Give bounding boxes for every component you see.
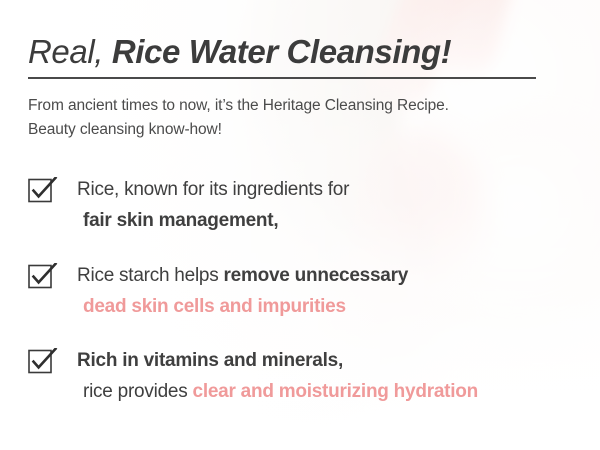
list-item-2-line-2-accent: dead skin cells and impurities: [83, 296, 346, 317]
list-item-line-1: Rich in vitamins and minerals,: [77, 346, 478, 377]
subtitle-line-2: Beauty cleansing know-how!: [28, 118, 572, 142]
rice-water-cleansing-banner: Real, Rice Water Cleansing! From ancient…: [0, 0, 600, 450]
list-item-2-line-1-bold: remove unnecessary: [224, 265, 409, 286]
list-item-text: Rice, known for its ingredients for fair…: [77, 175, 349, 237]
checkbox-checked-icon: [28, 177, 58, 203]
subtitle-block: From ancient times to now, it’s the Heri…: [28, 94, 572, 141]
title-light-segment: Real,: [28, 33, 103, 70]
list-item-3-line-1-bold: Rich in vitamins and minerals,: [77, 350, 343, 371]
title-strong-segment: Rice Water Cleansing!: [112, 33, 451, 70]
title-block: Real, Rice Water Cleansing!: [28, 0, 572, 79]
benefit-list: Rice, known for its ingredients for fair…: [28, 175, 572, 408]
subtitle-line-1: From ancient times to now, it’s the Heri…: [28, 94, 572, 118]
list-item: Rice starch helps remove unnecessary dea…: [28, 261, 572, 323]
list-item-line-2: fair skin management,: [77, 206, 349, 237]
banner-content: Real, Rice Water Cleansing! From ancient…: [0, 0, 600, 408]
list-item-3-line-2-regular: rice provides: [83, 381, 193, 402]
checkbox-checked-icon: [28, 263, 58, 289]
list-item: Rich in vitamins and minerals, rice prov…: [28, 346, 572, 408]
list-item-2-line-1-regular: Rice starch helps: [77, 265, 224, 286]
list-item-line-1: Rice starch helps remove unnecessary: [77, 261, 408, 292]
checkbox-checked-icon: [28, 348, 58, 374]
list-item-3-line-2-accent: clear and moisturizing hydration: [193, 381, 479, 402]
list-item: Rice, known for its ingredients for fair…: [28, 175, 572, 237]
list-item-1-line-1-regular: Rice, known for its ingredients for: [77, 179, 349, 200]
list-item-line-2: rice provides clear and moisturizing hyd…: [77, 377, 478, 408]
page-title: Real, Rice Water Cleansing!: [28, 33, 572, 71]
list-item-1-line-2-bold: fair skin management,: [83, 210, 278, 231]
list-item-line-2: dead skin cells and impurities: [77, 292, 408, 323]
title-underline-rule: [28, 77, 536, 79]
list-item-text: Rice starch helps remove unnecessary dea…: [77, 261, 408, 323]
list-item-text: Rich in vitamins and minerals, rice prov…: [77, 346, 478, 408]
list-item-line-1: Rice, known for its ingredients for: [77, 175, 349, 206]
